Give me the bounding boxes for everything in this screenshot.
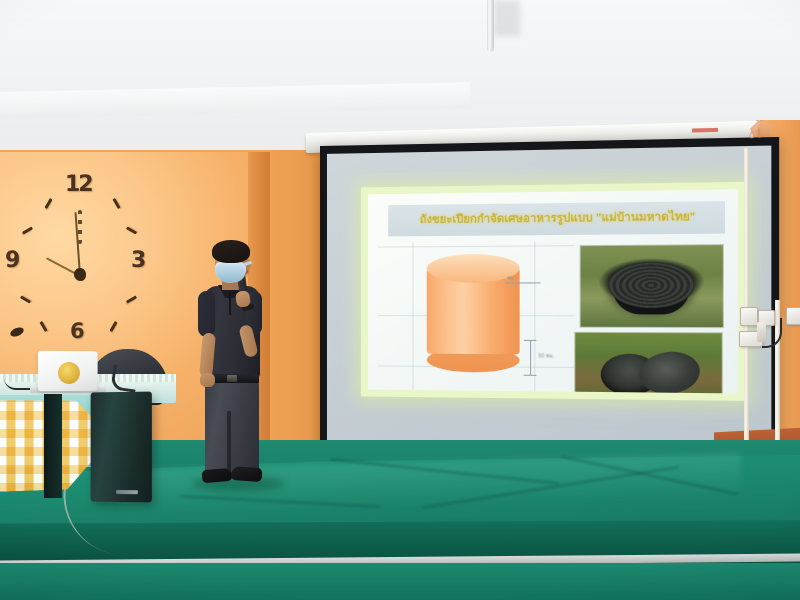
presenter (196, 243, 270, 488)
presenter-leg-gap (227, 411, 231, 473)
laptop-emblem-icon (58, 362, 80, 384)
presenter-hair (212, 240, 250, 263)
presenter-sleeve-left (198, 291, 215, 337)
floor-foreground (0, 563, 800, 600)
presenter-belt-buckle (227, 375, 237, 382)
presentation-room-photo: 12 3 6 9 ถังขยะเปียกกำจัดเศษอาหารรูปแบบ … (0, 0, 800, 600)
cable-conduit (744, 148, 749, 448)
speaker-cabinet-side (44, 394, 62, 498)
wall-outlet-1[interactable] (740, 307, 758, 326)
laptop[interactable] (38, 351, 98, 391)
wall-outlet-3[interactable] (786, 307, 800, 325)
presenter-shirt-placket (229, 293, 231, 315)
wall-marking: ८१ (747, 123, 771, 141)
presenter-shoe-right (231, 466, 263, 482)
speaker-cabinet (91, 392, 152, 503)
presenter-hand-left (200, 373, 215, 387)
presenter-shoe-left (201, 468, 232, 484)
presenter-trousers (205, 381, 259, 473)
speaker-logo (116, 490, 138, 494)
